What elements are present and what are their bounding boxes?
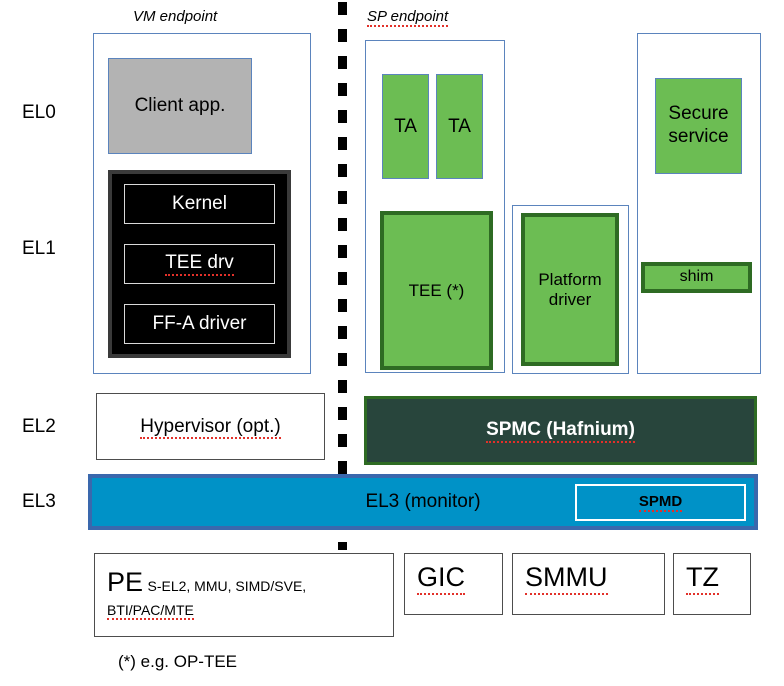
sp-endpoint-header: SP endpoint: [367, 8, 448, 25]
tz-label: TZ: [686, 562, 719, 595]
platform-driver-label-line2: driver: [549, 290, 592, 310]
shim-label: shim: [680, 268, 714, 286]
el3-monitor-label: EL3 (monitor): [365, 491, 480, 513]
diagram-canvas: VM endpoint SP endpoint EL0 EL1 EL2 EL3 …: [0, 0, 784, 686]
exception-level-label-el1: EL1: [22, 238, 56, 260]
ffa-driver-box[interactable]: FF-A driver: [124, 304, 275, 344]
shim-box[interactable]: shim: [641, 262, 752, 293]
sp-endpoint-header-text: SP endpoint: [367, 8, 448, 27]
smmu-label: SMMU: [525, 562, 608, 595]
footnote: (*) e.g. OP-TEE: [118, 652, 237, 672]
spmc-label: SPMC (Hafnium): [486, 419, 635, 443]
hypervisor-label: Hypervisor (opt.): [140, 416, 280, 438]
vm-endpoint-header: VM endpoint: [133, 8, 217, 25]
spmc-box[interactable]: SPMC (Hafnium): [364, 396, 757, 465]
ta-label-1: TA: [394, 116, 417, 138]
hardware-box-tz[interactable]: TZ: [673, 553, 751, 615]
hypervisor-box[interactable]: Hypervisor (opt.): [96, 393, 325, 460]
kernel-label: Kernel: [172, 193, 227, 215]
spmd-label: SPMD: [639, 493, 682, 512]
pe-features-line2: BTI/PAC/MTE: [107, 602, 194, 620]
tee-driver-label: TEE drv: [165, 252, 234, 276]
ta-box-1[interactable]: TA: [382, 74, 429, 179]
client-app-label: Client app.: [135, 95, 226, 117]
exception-level-label-el0: EL0: [22, 102, 56, 124]
pe-label: PE: [107, 567, 143, 597]
kernel-box[interactable]: Kernel: [124, 184, 275, 224]
platform-driver-box[interactable]: Platform driver: [521, 213, 619, 366]
kernel-stack-container: Kernel TEE drv FF-A driver: [108, 170, 291, 358]
exception-level-label-el3: EL3: [22, 491, 56, 513]
hypervisor-label-text: Hypervisor (opt.): [140, 416, 280, 439]
ta-label-2: TA: [448, 116, 471, 138]
spmd-box[interactable]: SPMD: [575, 484, 746, 521]
tee-label: TEE (*): [409, 281, 465, 301]
vm-endpoint-header-text: VM endpoint: [133, 8, 217, 25]
client-app-box[interactable]: Client app.: [108, 58, 252, 154]
secure-service-label-line2: service: [668, 126, 728, 149]
exception-level-label-el2: EL2: [22, 416, 56, 438]
hardware-box-pe[interactable]: PE S-EL2, MMU, SIMD/SVE, BTI/PAC/MTE: [94, 553, 394, 637]
gic-label: GIC: [417, 562, 465, 595]
secure-service-label-line1: Secure: [668, 103, 728, 126]
security-boundary-divider: [338, 2, 347, 550]
hardware-box-smmu[interactable]: SMMU: [512, 553, 665, 615]
pe-features-line1: S-EL2, MMU, SIMD/SVE,: [147, 578, 306, 594]
tee-driver-box[interactable]: TEE drv: [124, 244, 275, 284]
hardware-box-gic[interactable]: GIC: [404, 553, 503, 615]
ffa-driver-label: FF-A driver: [153, 313, 247, 335]
platform-driver-label-line1: Platform: [538, 270, 601, 290]
ta-box-2[interactable]: TA: [436, 74, 483, 179]
tee-box[interactable]: TEE (*): [380, 211, 493, 370]
secure-service-box[interactable]: Secure service: [655, 78, 742, 174]
footnote-text: (*) e.g. OP-TEE: [118, 652, 237, 671]
